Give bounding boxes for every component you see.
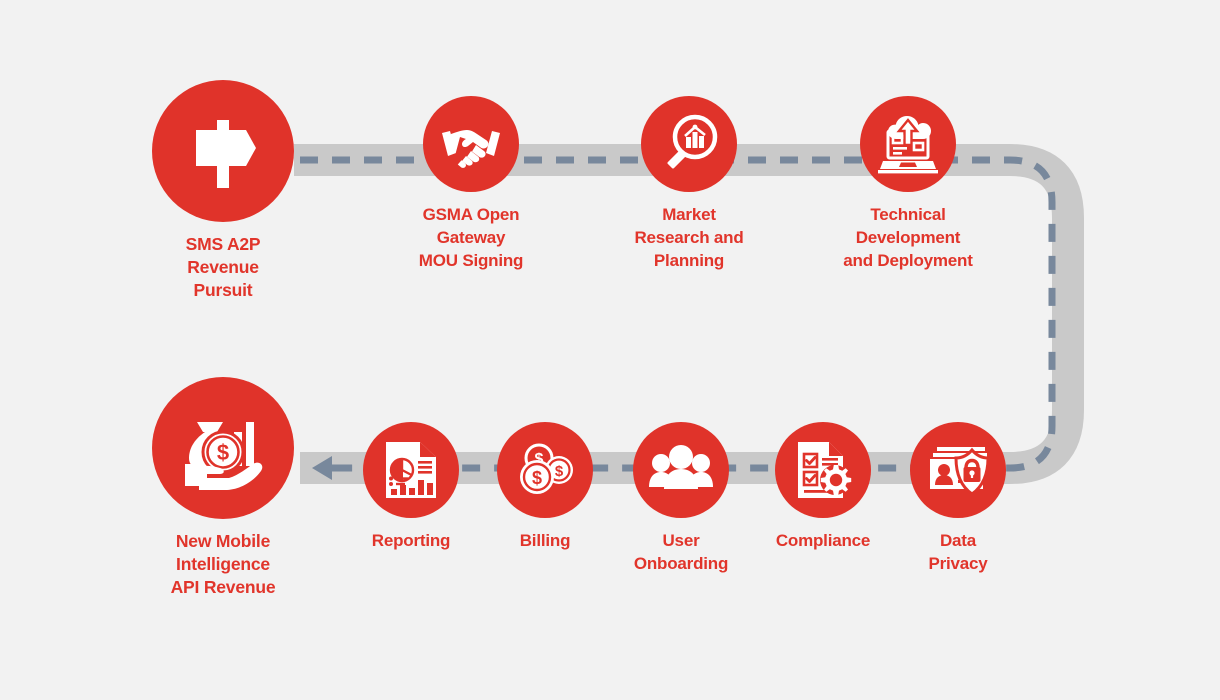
node-new-mobile-intelligence-api-revenue[interactable]: $ New Mobile Intelligence API Revenue <box>123 377 323 599</box>
node-circle[interactable] <box>641 96 737 192</box>
cloud-laptop-upload-icon <box>873 109 943 179</box>
node-circle[interactable] <box>775 422 871 518</box>
report-document-icon <box>380 439 442 501</box>
node-label: Technical Development and Deployment <box>808 203 1008 272</box>
node-label: GSMA Open Gateway MOU Signing <box>371 203 571 272</box>
node-label: SMS A2P Revenue Pursuit <box>123 233 323 302</box>
node-circle[interactable]: $ $ $ <box>497 422 593 518</box>
checklist-gear-icon <box>792 439 854 501</box>
svg-text:$: $ <box>555 463 564 480</box>
node-technical-development-and-deployment[interactable]: Technical Development and Deployment <box>808 96 1008 272</box>
node-circle[interactable] <box>423 96 519 192</box>
node-label: New Mobile Intelligence API Revenue <box>123 530 323 599</box>
node-market-research-and-planning[interactable]: Market Research and Planning <box>589 96 789 272</box>
handshake-icon <box>438 111 504 177</box>
svg-text:$: $ <box>217 440 229 465</box>
node-gsma-open-gateway-mou-signing[interactable]: GSMA Open Gateway MOU Signing <box>371 96 571 272</box>
node-circle[interactable] <box>910 422 1006 518</box>
users-group-icon <box>648 437 714 503</box>
money-bag-hand-icon: $ <box>177 402 269 494</box>
magnifier-chart-icon <box>656 111 722 177</box>
signpost-icon <box>180 108 266 194</box>
node-label: Data Privacy <box>858 529 1058 575</box>
node-label: Market Research and Planning <box>589 203 789 272</box>
svg-text:$: $ <box>532 468 542 488</box>
id-card-shield-lock-icon <box>925 437 991 503</box>
node-circle[interactable] <box>152 80 294 222</box>
node-circle[interactable] <box>633 422 729 518</box>
roadmap-diagram: SMS A2P Revenue Pursuit GSMA Open Gatewa… <box>0 0 1220 700</box>
coins-dollar-icon: $ $ $ <box>514 439 576 501</box>
node-circle[interactable] <box>860 96 956 192</box>
node-data-privacy[interactable]: Data Privacy <box>858 422 1058 575</box>
node-circle[interactable]: $ <box>152 377 294 519</box>
node-sms-a2p-revenue-pursuit[interactable]: SMS A2P Revenue Pursuit <box>123 80 323 302</box>
